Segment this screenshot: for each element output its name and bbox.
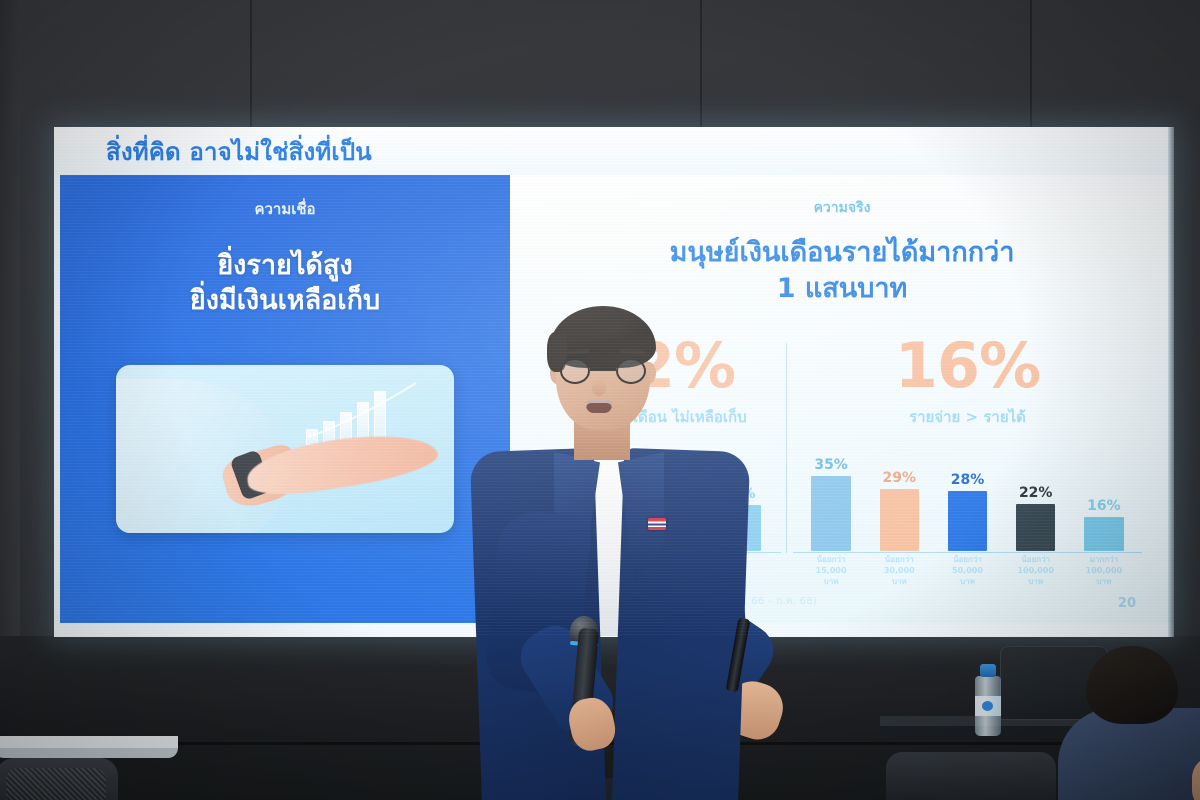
presenter-mouth xyxy=(586,400,612,413)
lens-right xyxy=(616,358,646,384)
belief-panel: ความเชื่อ ยิ่งรายได้สูง ยิ่งมีเงินเหลือเ… xyxy=(60,175,510,623)
slide-title: สิ่งที่คิด อาจไม่ใช่สิ่งที่เป็น xyxy=(106,132,372,171)
belief-headline-line2: ยิ่งมีเงินเหลือเก็บ xyxy=(60,284,510,319)
bar-value-label: 22% xyxy=(1019,485,1053,501)
truth-headline-line1: มนุษย์เงินเดือนรายได้มากกว่า xyxy=(510,235,1174,271)
bottle-cap xyxy=(980,664,996,677)
big-percentage-1: 16% xyxy=(787,335,1148,397)
water-bottle xyxy=(975,664,1001,736)
audience-head xyxy=(1086,646,1178,724)
slide-header: สิ่งที่คิด อาจไม่ใช่สิ่งที่เป็น xyxy=(54,127,1174,175)
chair-foreground-right xyxy=(886,752,1056,800)
bar-rect xyxy=(880,489,920,551)
big-percentage-caption-1: รายจ่าย > รายได้ xyxy=(787,405,1148,429)
chair-foreground-left xyxy=(0,758,118,800)
bar-cell: 22% xyxy=(1002,485,1070,551)
truth-headline: มนุษย์เงินเดือนรายได้มากกว่า 1 แสนบาท xyxy=(510,235,1174,307)
presenter-nose xyxy=(592,380,606,396)
wall-panel-left xyxy=(0,0,20,660)
bar-category-label: น้อยกว่า 30,000 บาท xyxy=(865,555,933,599)
belief-kicker: ความเชื่อ xyxy=(60,197,510,221)
chart-axis-1 xyxy=(793,552,1142,553)
bar-label-group-1: น้อยกว่า 15,000 บาทน้อยกว่า 30,000 บาทน้… xyxy=(797,555,1138,599)
belief-headline: ยิ่งรายได้สูง ยิ่งมีเงินเหลือเก็บ xyxy=(60,249,510,318)
bar-category-label: น้อยกว่า 100,000 บาท xyxy=(1002,555,1070,599)
hand-growth-chart-image xyxy=(116,365,454,533)
bar-category-label: น้อยกว่า 50,000 บาท xyxy=(933,555,1001,599)
slide-page-number: 20 xyxy=(1118,596,1136,611)
bottle-label xyxy=(975,696,1001,716)
bar-group-1: 35%29%28%22%16% xyxy=(797,431,1138,551)
screen-right-edge xyxy=(1168,127,1174,637)
bar-value-label: 16% xyxy=(1087,498,1121,514)
bar-cell: 16% xyxy=(1070,498,1138,551)
presenter xyxy=(470,300,830,800)
bar-category-label: มากกว่า 100,000 บาท xyxy=(1070,555,1138,599)
bar-value-label: 28% xyxy=(951,472,985,488)
bar-rect xyxy=(1016,504,1056,551)
conference-room: สิ่งที่คิด อาจไม่ใช่สิ่งที่เป็น ttb ความ… xyxy=(0,0,1200,800)
thai-flag-pin-icon xyxy=(648,518,666,530)
belief-headline-line1: ยิ่งรายได้สูง xyxy=(60,249,510,284)
truth-kicker: ความจริง xyxy=(510,197,1174,219)
bar-cell: 29% xyxy=(865,470,933,551)
bar-rect xyxy=(948,491,988,551)
bar-value-label: 29% xyxy=(883,470,917,486)
growth-arrow-icon xyxy=(304,379,422,441)
audience-member xyxy=(1072,646,1200,800)
table-foreground-left xyxy=(0,736,178,758)
bar-cell: 28% xyxy=(933,472,1001,551)
stat-column-1: 16% รายจ่าย > รายได้ 35%29%28%22%16% น้อ… xyxy=(787,335,1148,603)
lens-left xyxy=(560,358,590,384)
bar-rect xyxy=(1084,517,1124,551)
glasses-bridge xyxy=(590,368,616,371)
